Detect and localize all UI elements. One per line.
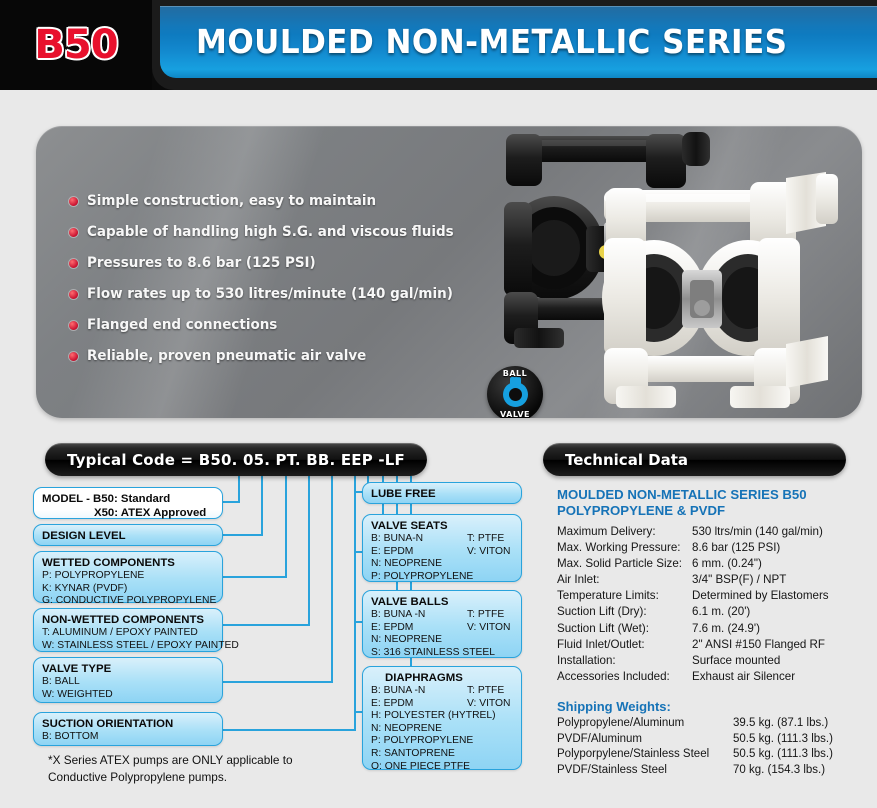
callout-line: N: NEOPRENE	[371, 723, 513, 736]
spec-row: Accessories Included: Exhaust air Silenc…	[557, 669, 872, 685]
callout-valve-type: VALVE TYPE B: BALL W: WEIGHTED	[33, 657, 223, 703]
bullet-icon	[69, 228, 78, 237]
callout-line: B: BOTTOM	[42, 731, 214, 744]
spec-key: Fluid Inlet/Outlet:	[557, 637, 692, 653]
callout-line-alt: V: VITON	[467, 698, 511, 711]
callout-line-alt: T: PTFE	[467, 609, 504, 622]
callout-title: WETTED COMPONENTS	[42, 556, 214, 570]
page-header: B50 MOULDED NON-METALLIC SERIES	[0, 0, 877, 90]
callout-line-alt: V: VITON	[467, 622, 511, 635]
list-item: Reliable, proven pneumatic air valve	[69, 343, 481, 369]
callout-line: T: ALUMINUM / EPOXY PAINTED	[42, 627, 214, 640]
callout-row: B: BUNA-N T: PTFE	[371, 533, 513, 546]
callout-row: E: EPDM V: VITON	[371, 698, 513, 711]
ball-valve-notch	[509, 388, 522, 401]
brand-logo-plate: B50	[0, 0, 152, 90]
callout-title: VALVE SEATS	[371, 519, 513, 533]
spec-key: Maximum Delivery:	[557, 524, 692, 540]
callout-row: E: EPDM V: VITON	[371, 546, 513, 559]
spec-row: Air Inlet: 3/4" BSP(F) / NPT	[557, 572, 872, 588]
feature-text: Pressures to 8.6 bar (125 PSI)	[87, 255, 316, 271]
spec-row: Suction Lift (Dry): 6.1 m. (20')	[557, 604, 872, 620]
feature-text: Flow rates up to 530 litres/minute (140 …	[87, 286, 453, 302]
bullet-icon	[69, 321, 78, 330]
weight-key: Polyporpylene/Stainless Steel	[557, 747, 733, 763]
callout-non-wetted-components: NON-WETTED COMPONENTS T: ALUMINUM / EPOX…	[33, 608, 223, 652]
weight-value: 70 kg. (154.3 lbs.)	[733, 763, 825, 779]
bullet-icon	[69, 259, 78, 268]
callout-line: N: NEOPRENE	[371, 558, 513, 571]
technical-data-panel: MOULDED NON-METALLIC SERIES B50 POLYPROP…	[557, 487, 872, 778]
spec-key: Suction Lift (Dry):	[557, 604, 692, 620]
callout-line: P: POLYPROPYLENE	[42, 570, 214, 583]
weight-value: 50.5 kg. (111.3 lbs.)	[733, 732, 833, 748]
callout-wetted-components: WETTED COMPONENTS P: POLYPROPYLENE K: KY…	[33, 551, 223, 603]
spec-value: 8.6 bar (125 PSI)	[692, 540, 780, 556]
callout-line: N: NEOPRENE	[371, 634, 513, 647]
shipping-weights-title: Shipping Weights:	[557, 698, 872, 716]
weight-row: Polypropylene/Aluminum 39.5 kg. (87.1 lb…	[557, 716, 872, 732]
callout-line: H: POLYESTER (HYTREL)	[371, 710, 513, 723]
spec-key: Suction Lift (Wet):	[557, 621, 692, 637]
spec-value: Surface mounted	[692, 653, 780, 669]
bullet-icon	[69, 290, 78, 299]
feature-text: Flanged end connections	[87, 317, 277, 333]
spec-key: Max. Working Pressure:	[557, 540, 692, 556]
spec-row: Fluid Inlet/Outlet: 2" ANSI #150 Flanged…	[557, 637, 872, 653]
header-banner: MOULDED NON-METALLIC SERIES	[160, 6, 877, 78]
ball-valve-label-top: BALL	[487, 369, 543, 378]
spec-value: 6.1 m. (20')	[692, 604, 750, 620]
callout-valve-balls: VALVE BALLS B: BUNA -N T: PTFE E: EPDM V…	[362, 590, 522, 658]
callout-line: P: POLYPROPYLENE	[371, 571, 513, 584]
feature-text: Capable of handling high S.G. and viscou…	[87, 224, 454, 240]
spec-value: Exhaust air Silencer	[692, 669, 795, 685]
feature-text: Simple construction, easy to maintain	[87, 193, 376, 209]
callout-lube-free: LUBE FREE	[362, 482, 522, 504]
typical-code-bar: Typical Code = B50. 05. PT. BB. EEP -LF	[45, 443, 427, 476]
weight-row: Polyporpylene/Stainless Steel 50.5 kg. (…	[557, 747, 872, 763]
weight-value: 50.5 kg. (111.3 lbs.)	[733, 747, 833, 763]
technical-data-bar: Technical Data	[543, 443, 846, 476]
spec-key: Installation:	[557, 653, 692, 669]
weight-value: 39.5 kg. (87.1 lbs.)	[733, 716, 828, 732]
callout-line-alt: V: VITON	[467, 546, 511, 559]
typical-code-label: Typical Code = B50. 05. PT. BB. EEP -LF	[67, 451, 405, 469]
spec-value: 7.6 m. (24.9')	[692, 621, 760, 637]
callout-line: E: EPDM	[371, 546, 467, 559]
tech-heading-line2: POLYPROPYLENE & PVDF	[557, 503, 872, 519]
hero-panel: Simple construction, easy to maintain Ca…	[36, 126, 862, 418]
spec-row: Max. Solid Particle Size: 6 mm. (0.24")	[557, 556, 872, 572]
feature-list: Simple construction, easy to maintain Ca…	[69, 188, 481, 374]
callout-line: R: SANTOPRENE	[371, 748, 513, 761]
callout-line: B: BUNA -N	[371, 685, 467, 698]
list-item: Flow rates up to 530 litres/minute (140 …	[69, 281, 481, 307]
list-item: Pressures to 8.6 bar (125 PSI)	[69, 250, 481, 276]
list-item: Flanged end connections	[69, 312, 481, 338]
spec-row: Temperature Limits: Determined by Elasto…	[557, 588, 872, 604]
callout-line-alt: T: PTFE	[467, 685, 504, 698]
header-banner-shell: MOULDED NON-METALLIC SERIES	[152, 0, 877, 90]
callout-diaphragms: DIAPHRAGMS B: BUNA -N T: PTFE E: EPDM V:…	[362, 666, 522, 770]
weight-key: PVDF/Aluminum	[557, 732, 733, 748]
callout-line: W: WEIGHTED	[42, 689, 214, 702]
callout-title: MODEL - B50: Standard	[42, 492, 214, 506]
callout-title: VALVE TYPE	[42, 662, 214, 676]
ball-valve-icon: BALL VALVE	[487, 366, 543, 418]
callout-line: B: BUNA -N	[371, 609, 467, 622]
callout-subtitle: X50: ATEX Approved	[42, 506, 214, 520]
spec-row: Installation: Surface mounted	[557, 653, 872, 669]
callout-line: W: STAINLESS STEEL / EPOXY PAINTED	[42, 640, 214, 653]
brand-logo-text: B50	[34, 22, 117, 68]
bullet-icon	[69, 197, 78, 206]
callout-line-alt: T: PTFE	[467, 533, 504, 546]
callout-line: O: ONE PIECE PTFE	[371, 761, 513, 774]
callout-line: G: CONDUCTIVE POLYPROPYLENE	[42, 595, 214, 608]
ball-valve-label-bottom: VALVE	[487, 410, 543, 418]
spec-value: 530 ltrs/min (140 gal/min)	[692, 524, 823, 540]
callout-line: B: BALL	[42, 676, 214, 689]
callout-line: E: EPDM	[371, 622, 467, 635]
spec-value: Determined by Elastomers	[692, 588, 829, 604]
spec-row: Maximum Delivery: 530 ltrs/min (140 gal/…	[557, 524, 872, 540]
weight-row: PVDF/Stainless Steel 70 kg. (154.3 lbs.)	[557, 763, 872, 779]
spec-row: Suction Lift (Wet): 7.6 m. (24.9')	[557, 621, 872, 637]
spec-row: Max. Working Pressure: 8.6 bar (125 PSI)	[557, 540, 872, 556]
spec-key: Max. Solid Particle Size:	[557, 556, 692, 572]
spec-value: 6 mm. (0.24")	[692, 556, 762, 572]
callout-title: NON-WETTED COMPONENTS	[42, 613, 214, 627]
spec-key: Air Inlet:	[557, 572, 692, 588]
callout-suction-orientation: SUCTION ORIENTATION B: BOTTOM	[33, 712, 223, 746]
footnote-text: *X Series ATEX pumps are ONLY applicable…	[48, 752, 348, 786]
tech-heading-line1: MOULDED NON-METALLIC SERIES B50	[557, 487, 872, 503]
callout-title: SUCTION ORIENTATION	[42, 717, 214, 731]
weight-key: PVDF/Stainless Steel	[557, 763, 733, 779]
spec-value: 3/4" BSP(F) / NPT	[692, 572, 786, 588]
spec-key: Temperature Limits:	[557, 588, 692, 604]
callout-valve-seats: VALVE SEATS B: BUNA-N T: PTFE E: EPDM V:…	[362, 514, 522, 582]
callout-title: DIAPHRAGMS	[371, 671, 513, 685]
callout-title: LUBE FREE	[371, 487, 513, 501]
feature-text: Reliable, proven pneumatic air valve	[87, 348, 366, 364]
spec-value: 2" ANSI #150 Flanged RF	[692, 637, 825, 653]
spec-key: Accessories Included:	[557, 669, 692, 685]
callout-row: E: EPDM V: VITON	[371, 622, 513, 635]
callout-line: S: 316 STAINLESS STEEL	[371, 647, 513, 660]
callout-design-level: DESIGN LEVEL	[33, 524, 223, 546]
callout-title: VALVE BALLS	[371, 595, 513, 609]
technical-data-label: Technical Data	[565, 451, 688, 469]
callout-line: K: KYNAR (PVDF)	[42, 583, 214, 596]
callout-line: P: POLYPROPYLENE	[371, 735, 513, 748]
callout-line: B: BUNA-N	[371, 533, 467, 546]
callout-model: MODEL - B50: Standard X50: ATEX Approved	[33, 487, 223, 519]
weight-key: Polypropylene/Aluminum	[557, 716, 733, 732]
callout-title: DESIGN LEVEL	[42, 529, 214, 543]
bullet-icon	[69, 352, 78, 361]
callout-row: B: BUNA -N T: PTFE	[371, 609, 513, 622]
list-item: Capable of handling high S.G. and viscou…	[69, 219, 481, 245]
list-item: Simple construction, easy to maintain	[69, 188, 481, 214]
callout-line: E: EPDM	[371, 698, 467, 711]
weight-row: PVDF/Aluminum 50.5 kg. (111.3 lbs.)	[557, 732, 872, 748]
callout-row: B: BUNA -N T: PTFE	[371, 685, 513, 698]
page-title: MOULDED NON-METALLIC SERIES	[196, 22, 787, 61]
